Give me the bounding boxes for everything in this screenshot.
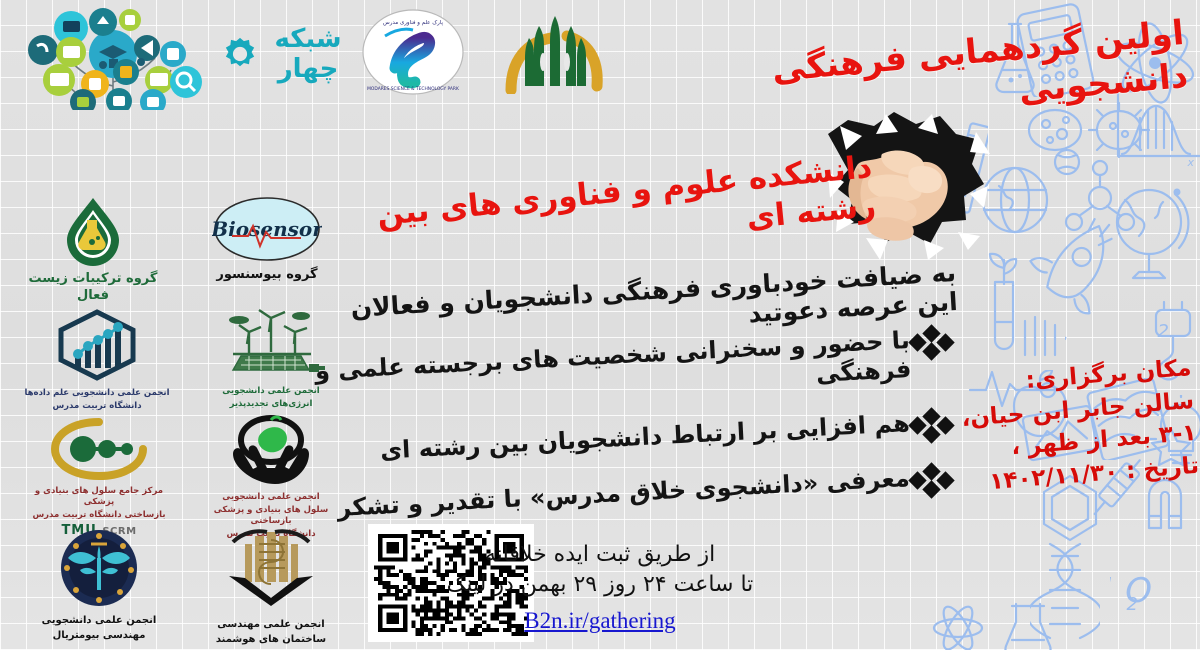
highlight-item: هم افزایی بر ارتباط دانشجویان بین رشته ا… <box>255 409 955 439</box>
data-science-caption-2: دانشگاه تربیت مدرس <box>22 401 172 412</box>
venue-info-block: مکان برگزاری: سالن جابر ابن حیان، ۳-۱ بع… <box>961 352 1200 500</box>
logo-data-science-association: انجمن علمی دانشجویی علم داده‌ها دانشگاه … <box>22 308 172 412</box>
registration-link[interactable]: B2n.ir/gathering <box>524 605 675 637</box>
ball-doodle <box>1050 145 1084 179</box>
education-network-tree-icon <box>13 2 213 110</box>
diamond-bullet-icon <box>909 464 955 494</box>
bacteria-doodle <box>1085 100 1155 162</box>
data-science-hexagon-icon <box>49 308 145 382</box>
svg-text:x: x <box>1186 156 1194 166</box>
registration-block: از طریق ثبت ایده خلاقانه تا ساعت ۲۴ روز … <box>0 540 1200 637</box>
logo-shabake-chahar: شبکه چهار <box>222 24 352 84</box>
highlight-item: با حضور و سخنرانی شخصیت های برجسته علمی … <box>255 326 955 384</box>
molecule-doodle <box>1060 150 1140 240</box>
highlight-text: معرفی «دانشجوی خلاق مدرس» با تقدیر و تشک… <box>256 464 911 527</box>
bioactive-caption: گروه ترکیبات زیست فعال <box>18 271 168 305</box>
stem-cell-center-icon <box>49 418 149 480</box>
biosensor-icon: Biosensor <box>212 196 322 262</box>
diamond-bullet-icon <box>909 326 955 356</box>
poster-canvas: x <box>0 0 1200 650</box>
logo-bioactive-compounds-group: گروه ترکیبات زیست فعال <box>18 196 168 305</box>
shabake-chahar-label: شبکه چهار <box>264 24 352 84</box>
tarbiat-modares-tulip-icon <box>501 14 609 94</box>
biosensor-wordmark: Biosensor <box>212 217 322 241</box>
highlight-text: هم افزایی بر ارتباط دانشجویان بین رشته ا… <box>256 409 911 472</box>
logo-biosensor-group: Biosensor گروه بیوسنسور <box>192 196 342 284</box>
modares-science-park-icon: پارک علم و فناوری مدرس MODARES SCIENCE &… <box>359 6 467 98</box>
registration-line-1: از طریق ثبت ایده خلاقانه <box>0 540 1200 570</box>
shabake-chahar-icon <box>222 26 258 82</box>
highlights-list: با حضور و سخنرانی شخصیت های برجسته علمی … <box>255 326 955 519</box>
svg-text:2: 2 <box>1158 321 1169 342</box>
highlight-text: با حضور و سخنرانی شخصیت های برجسته علمی … <box>256 326 912 418</box>
biosensor-caption: گروه بیوسنسور <box>192 267 342 284</box>
logo-education-network-tree <box>8 2 218 114</box>
svg-text:E = mc: E = mc <box>1065 324 1067 364</box>
highlight-item: معرفی «دانشجوی خلاق مدرس» با تقدیر و تشک… <box>255 464 955 494</box>
registration-line-2: تا ساعت ۲۴ روز ۲۹ بهمن در لینک <box>0 570 1200 600</box>
diamond-bullet-icon <box>909 409 955 439</box>
data-science-caption-1: انجمن علمی دانشجویی علم داده‌ها <box>22 388 172 399</box>
stem-cell-center-caption-1: مرکز جامع سلول های بنیادی و پزشکی <box>24 486 174 508</box>
logo-stem-cell-center: مرکز جامع سلول های بنیادی و پزشکی بازساخ… <box>24 418 174 540</box>
logo-modares-science-park: پارک علم و فناوری مدرس MODARES SCIENCE &… <box>358 6 468 102</box>
logo-tarbiat-modares-university <box>500 14 610 98</box>
rocket-doodle <box>1025 218 1135 318</box>
poster-subtitle: دانشکده علوم و فناوری های بین رشته ای <box>352 148 877 276</box>
stem-cell-center-caption-2: بازساختی دانشگاه تربیت مدرس <box>24 510 174 521</box>
modares-park-caption-en: MODARES SCIENCE & TECHNOLOGY PARK <box>367 86 459 92</box>
globe-stand-doodle <box>1105 178 1197 288</box>
modares-park-caption-fa: پارک علم و فناوری مدرس <box>383 19 443 26</box>
bioactive-droplet-icon <box>53 196 133 266</box>
